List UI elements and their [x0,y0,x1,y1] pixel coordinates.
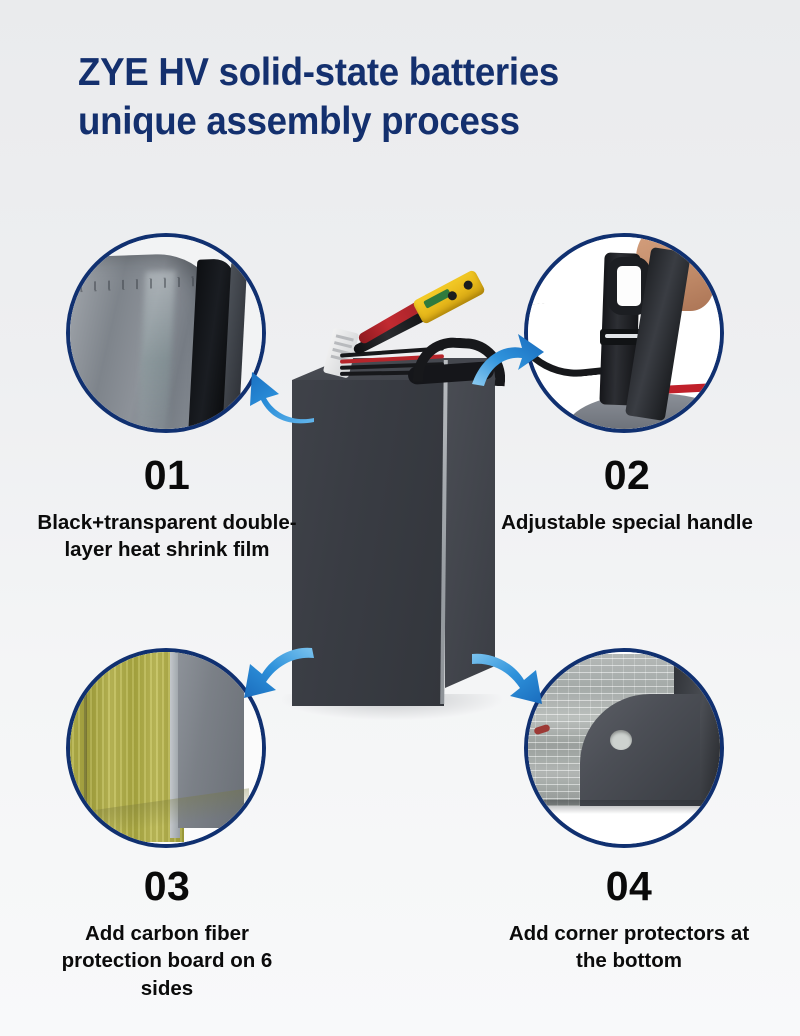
arrow-body [244,648,314,698]
step-02-photo-circle [524,233,724,433]
infographic-page: ZYE HV solid-state batteries unique asse… [0,0,800,1036]
arrow-body [472,654,542,704]
bottom-shadow [528,800,724,814]
step-04-photo-circle [524,648,724,848]
step-02-caption: 02 Adjustable special handle [500,455,754,536]
step-03-caption: 03 Add carbon fiber protection board on … [36,866,298,1002]
step-04-caption: 04 Add corner protectors at the bottom [494,866,764,975]
step-02-number: 02 [500,455,754,496]
step-01-caption: 01 Black+transparent double-layer heat s… [36,455,298,564]
step-02-text: Adjustable special handle [500,509,754,536]
step-04-number: 04 [494,866,764,907]
step-01-text: Black+transparent double-layer heat shri… [36,509,298,564]
corner-protector-photo [528,652,720,844]
page-title-line-2: unique assembly process [78,97,698,146]
velcro-handle-photo [528,237,720,429]
arrow-to-step-01 [246,368,316,424]
xt-connector-plug [412,269,486,325]
arrow-to-step-04 [468,648,548,706]
carbon-fiber-board-photo [70,652,262,844]
step-03-text: Add carbon fiber protection board on 6 s… [36,920,298,1002]
arrow-body [250,372,314,423]
step-03-number: 03 [36,866,298,907]
board-seam [84,648,87,832]
step-01-number: 01 [36,455,298,496]
step-03-photo-circle [66,648,266,848]
step-01-photo-circle [66,233,266,433]
page-title-line-1: ZYE HV solid-state batteries [78,48,698,97]
heat-shrink-film-photo [70,237,262,429]
page-title: ZYE HV solid-state batteries unique asse… [78,48,738,146]
arrow-to-step-02 [470,330,546,388]
step-04-text: Add corner protectors at the bottom [494,920,764,975]
battery-pack [292,358,492,710]
battery-side-face [445,358,495,688]
protector-hole [610,730,632,750]
arrow-to-step-03 [238,644,316,704]
arrow-body [472,334,544,386]
